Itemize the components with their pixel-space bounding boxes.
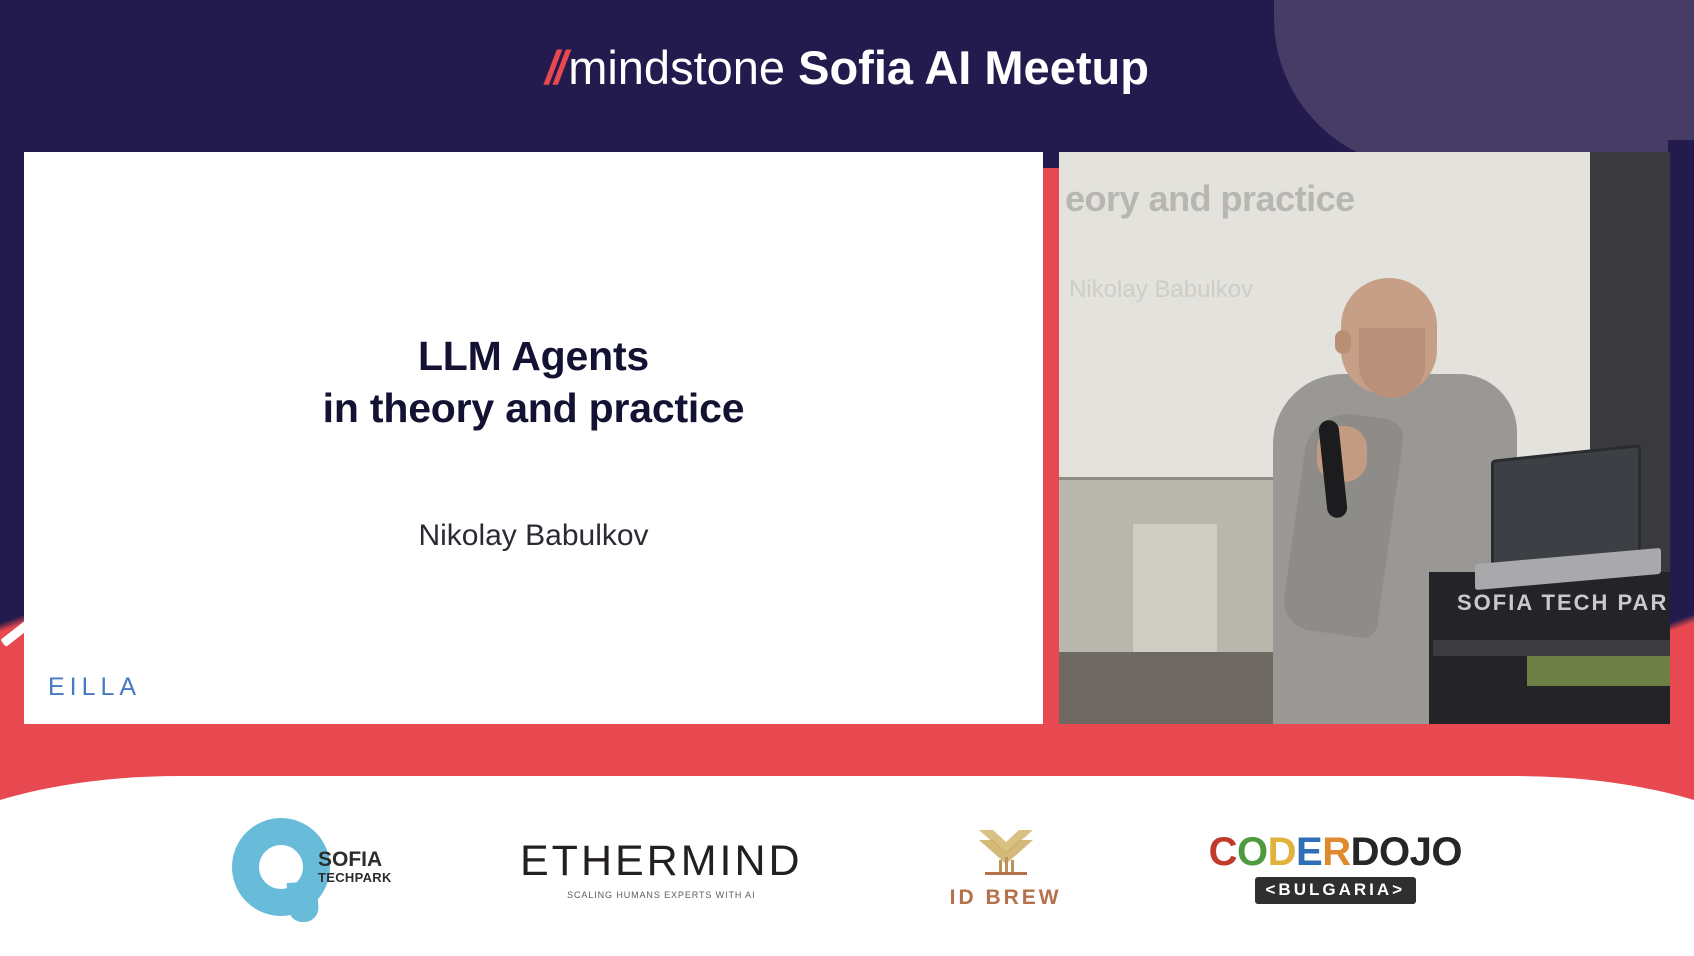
coderdojo-letter-6: O [1379,830,1410,874]
event-name-text [785,41,798,94]
background-navy-rail-right [1668,140,1694,610]
sponsor-id-brew: ID BREW [941,826,1071,910]
coderdojo-letter-1: O [1237,830,1268,874]
sofia-tech-park-name: SOFIA [318,849,392,871]
sponsor-sofia-tech-park: SOFIA TECHPARK [232,816,382,920]
coderdojo-letter-0: C [1209,830,1237,874]
sofia-tech-park-q-tail-icon [287,881,320,923]
coderdojo-letter-3: E [1296,830,1322,874]
podium-green-panel [1527,656,1670,686]
presentation-slide: LLM Agents in theory and practice Nikola… [24,152,1043,724]
coderdojo-letter-5: D [1351,830,1379,874]
meetup-stream-frame: //mindstone Sofia AI Meetup LLM Agents i… [0,0,1694,956]
sponsor-logo-strip: SOFIA TECHPARK ETHERMIND SCALING HUMANS … [0,808,1694,928]
id-brew-mark-icon [973,826,1039,882]
speaker-video-feed: eory and practice Nikolay Babulkov SOFIA… [1059,152,1670,724]
coderdojo-letter-8: O [1431,830,1462,874]
mindstone-brand-text: mindstone [568,41,785,94]
event-header-title: //mindstone Sofia AI Meetup [0,44,1694,91]
background-navy-rail-left [0,140,26,610]
projected-slide-title: eory and practice [1065,178,1355,220]
slide-title-line-1: LLM Agents [24,330,1043,382]
coderdojo-letter-7: J [1410,830,1432,874]
coderdojo-wordmark: CODERDOJO [1209,832,1462,872]
speaker-ear [1335,330,1351,354]
event-name: Sofia AI Meetup [798,41,1149,94]
slide-speaker-name: Nikolay Babulkov [24,519,1043,553]
id-brew-name: ID BREW [941,886,1071,910]
coderdojo-bulgaria-badge: <BULGARIA> [1255,877,1417,904]
coderdojo-letter-4: R [1322,830,1350,874]
ethermind-tagline: SCALING HUMANS EXPERTS WITH AI [520,890,803,900]
sponsor-ethermind: ETHERMIND SCALING HUMANS EXPERTS WITH AI [520,837,803,900]
sponsor-coderdojo: CODERDOJO <BULGARIA> [1209,832,1462,904]
coderdojo-letter-2: D [1268,830,1296,874]
slide-title-line-2: in theory and practice [24,382,1043,434]
speaker-face [1359,328,1425,398]
projected-slide-speaker: Nikolay Babulkov [1069,276,1253,304]
sofia-tech-park-sub: TECHPARK [318,871,392,885]
eilla-logo: EILLA [48,673,141,702]
ethermind-name: ETHERMIND [520,837,803,886]
podium-shelf [1433,640,1670,656]
podium-label: SOFIA TECH PAR [1457,590,1668,616]
mindstone-slashes-icon: // [545,41,563,94]
slide-title: LLM Agents in theory and practice [24,330,1043,435]
